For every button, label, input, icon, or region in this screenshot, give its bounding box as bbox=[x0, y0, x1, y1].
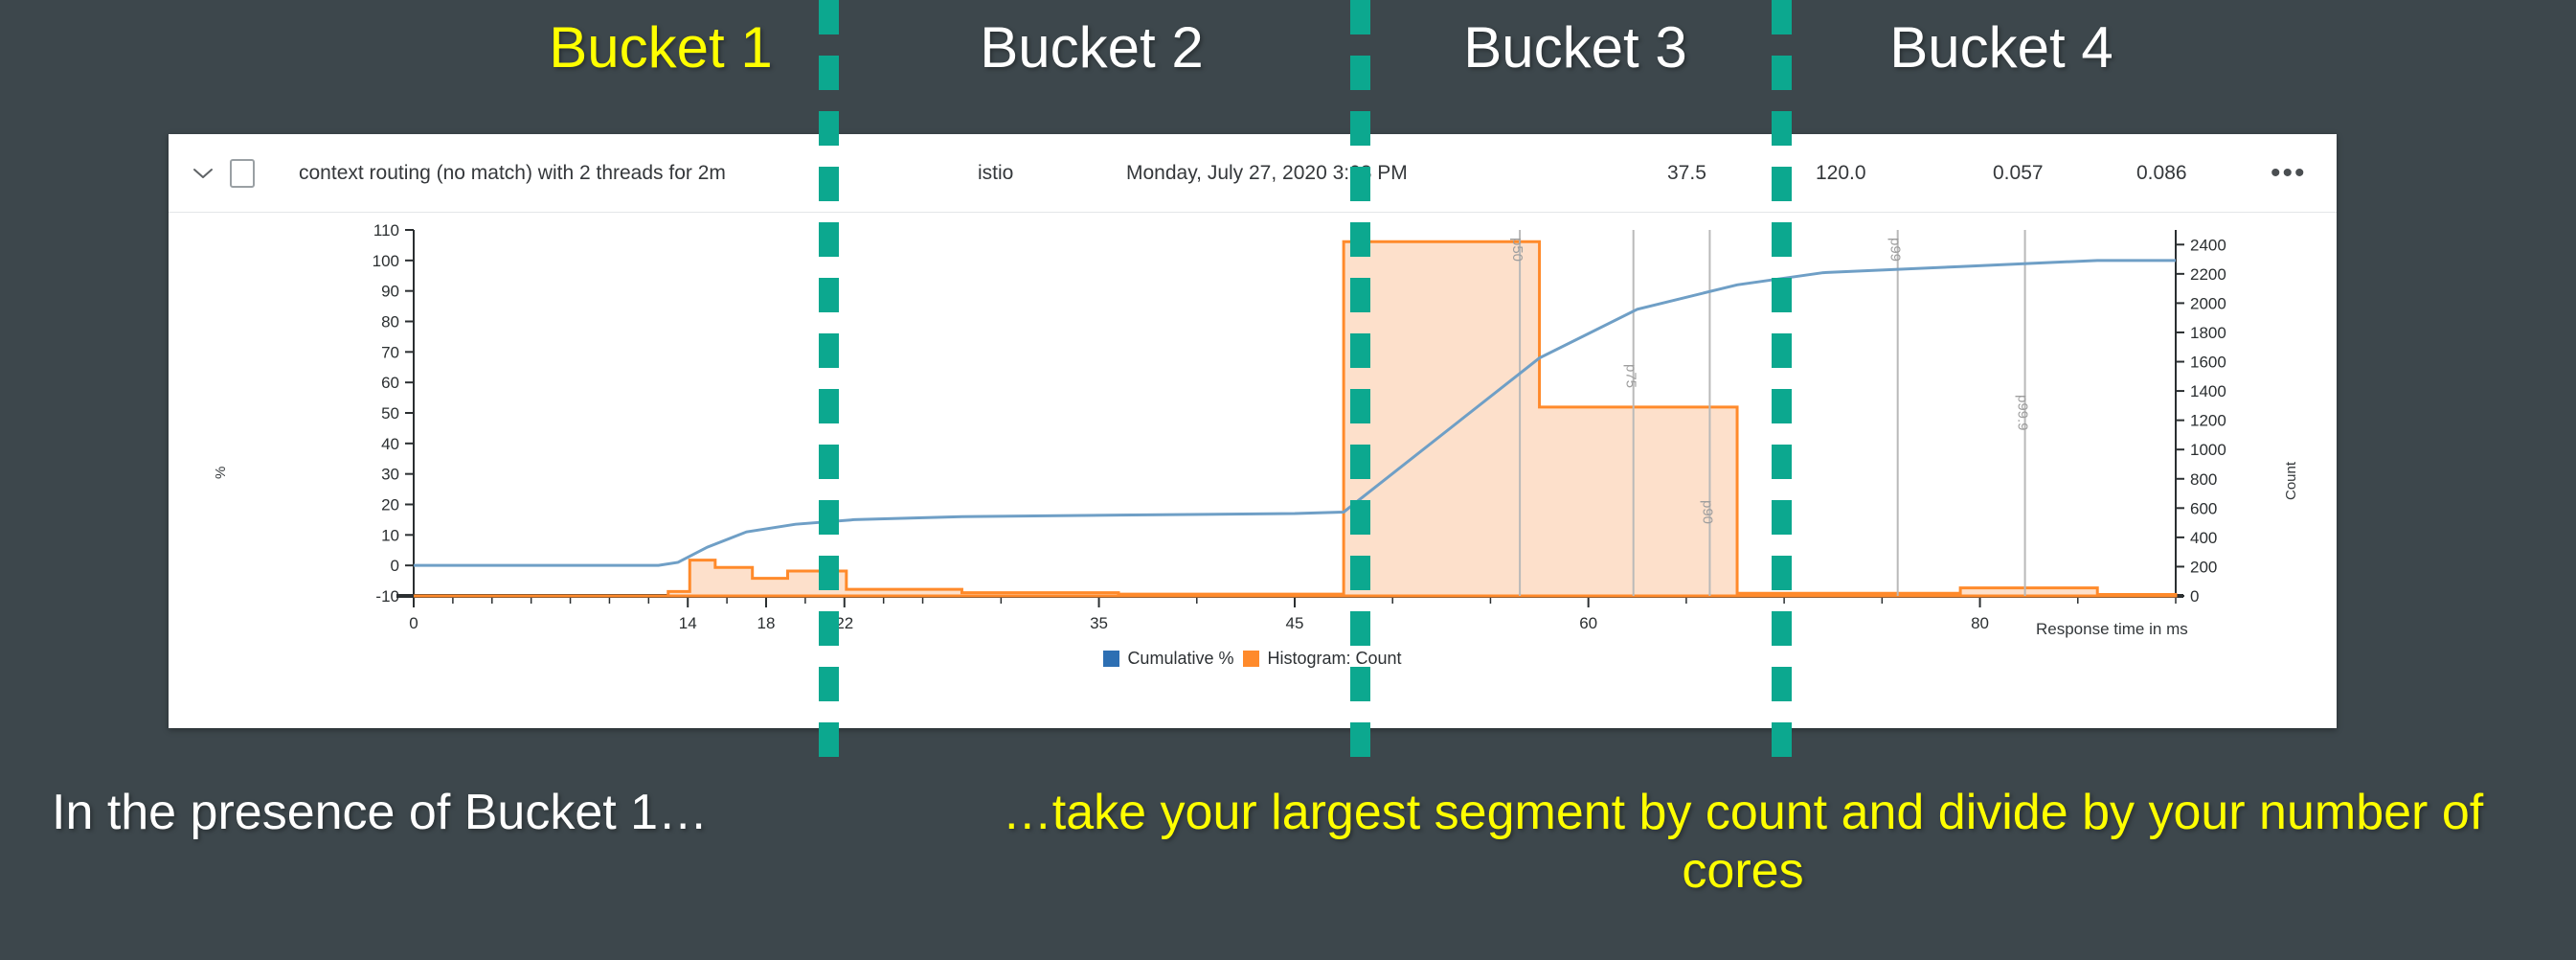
row-value-3: 0.057 bbox=[1993, 162, 2044, 185]
bucket-header: Bucket 1Bucket 2Bucket 3Bucket 4 bbox=[0, 0, 2576, 123]
svg-text:110: 110 bbox=[373, 221, 399, 240]
svg-text:100: 100 bbox=[373, 252, 399, 270]
svg-text:2000: 2000 bbox=[2190, 294, 2226, 312]
bucket-label-3: Bucket 3 bbox=[1384, 17, 1767, 78]
svg-text:400: 400 bbox=[2190, 529, 2217, 547]
x-axis-label: Response time in ms bbox=[2036, 620, 2188, 639]
percentile-label: p99.9 bbox=[2015, 395, 2031, 431]
caption-right: …take your largest segment by count and … bbox=[948, 784, 2538, 902]
svg-text:60: 60 bbox=[1579, 614, 1597, 632]
svg-text:1000: 1000 bbox=[2190, 441, 2226, 459]
table-row[interactable]: context routing (no match) with 2 thread… bbox=[169, 134, 2337, 213]
bucket-divider-3 bbox=[1772, 0, 1792, 776]
svg-text:35: 35 bbox=[1090, 614, 1108, 632]
svg-text:20: 20 bbox=[381, 496, 399, 514]
benchmark-result-panel: context routing (no match) with 2 thread… bbox=[169, 134, 2337, 728]
y-axis-right-label: Count bbox=[2283, 462, 2299, 500]
svg-text:2200: 2200 bbox=[2190, 265, 2226, 284]
svg-text:30: 30 bbox=[381, 466, 399, 484]
bucket-label-4: Bucket 4 bbox=[1810, 17, 2193, 78]
legend-label: Histogram: Count bbox=[1267, 649, 1401, 669]
ellipsis-icon[interactable]: ••• bbox=[2271, 165, 2307, 182]
svg-text:80: 80 bbox=[381, 313, 399, 331]
bucket-divider-1 bbox=[819, 0, 839, 776]
svg-text:45: 45 bbox=[1286, 614, 1304, 632]
svg-text:1800: 1800 bbox=[2190, 324, 2226, 342]
row-checkbox[interactable] bbox=[230, 159, 255, 188]
svg-text:14: 14 bbox=[679, 614, 697, 632]
svg-text:0: 0 bbox=[2190, 587, 2199, 606]
histogram-chart: -100102030405060708090100110020040060080… bbox=[169, 213, 2337, 728]
chevron-down-icon[interactable] bbox=[182, 167, 224, 180]
bucket-divider-2 bbox=[1350, 0, 1370, 776]
percentile-label: p50 bbox=[1509, 238, 1525, 262]
svg-text:70: 70 bbox=[381, 343, 399, 361]
svg-text:1600: 1600 bbox=[2190, 354, 2226, 372]
svg-text:600: 600 bbox=[2190, 499, 2217, 517]
row-value-4: 0.086 bbox=[2136, 162, 2187, 185]
svg-text:80: 80 bbox=[1971, 614, 1989, 632]
histogram-series bbox=[414, 241, 2176, 596]
percentile-label: p99 bbox=[1887, 238, 1904, 262]
svg-text:800: 800 bbox=[2190, 470, 2217, 489]
row-name: context routing (no match) with 2 thread… bbox=[299, 162, 726, 185]
chart-legend: Cumulative %Histogram: Count bbox=[169, 649, 2337, 669]
y-axis-left-label: % bbox=[213, 467, 229, 479]
percentile-label: p75 bbox=[1623, 364, 1639, 388]
svg-text:0: 0 bbox=[391, 557, 399, 575]
percentile-label: p90 bbox=[1699, 500, 1715, 524]
legend-item-0[interactable]: Cumulative % bbox=[1103, 649, 1233, 669]
legend-label: Cumulative % bbox=[1127, 649, 1233, 669]
bucket-label-2: Bucket 2 bbox=[900, 17, 1283, 78]
svg-text:10: 10 bbox=[381, 526, 399, 544]
svg-text:1200: 1200 bbox=[2190, 412, 2226, 430]
svg-text:50: 50 bbox=[381, 404, 399, 423]
cumulative-series bbox=[414, 261, 2176, 565]
svg-text:1400: 1400 bbox=[2190, 382, 2226, 400]
svg-text:18: 18 bbox=[757, 614, 776, 632]
svg-text:0: 0 bbox=[409, 614, 418, 632]
legend-swatch-icon bbox=[1243, 651, 1259, 667]
bucket-label-1: Bucket 1 bbox=[469, 17, 852, 78]
svg-text:40: 40 bbox=[381, 435, 399, 453]
legend-item-1[interactable]: Histogram: Count bbox=[1243, 649, 1401, 669]
row-value-2: 120.0 bbox=[1816, 162, 1866, 185]
caption-left: In the presence of Bucket 1… bbox=[52, 784, 708, 842]
legend-swatch-icon bbox=[1103, 651, 1119, 667]
svg-text:200: 200 bbox=[2190, 558, 2217, 576]
row-value-1: 37.5 bbox=[1667, 162, 1706, 185]
svg-text:90: 90 bbox=[381, 283, 399, 301]
svg-text:2400: 2400 bbox=[2190, 236, 2226, 254]
svg-text:-10: -10 bbox=[375, 587, 399, 606]
svg-text:60: 60 bbox=[381, 374, 399, 392]
row-tag: istio bbox=[978, 162, 1013, 185]
